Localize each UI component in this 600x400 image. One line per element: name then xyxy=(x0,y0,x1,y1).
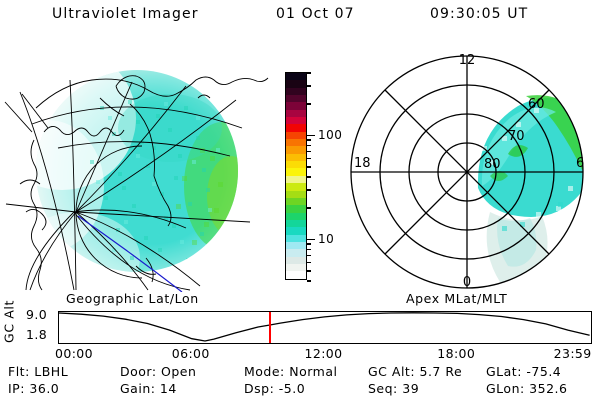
strip-x-tick-label: 12:00 xyxy=(304,346,342,361)
mlt-label-6: 6 xyxy=(576,156,584,171)
colorbar-band xyxy=(286,235,306,242)
status-field: GC Alt: 5.7 Re xyxy=(368,364,462,379)
colorbar-major-tick xyxy=(307,239,315,241)
status-field: GLat: -75.4 xyxy=(486,364,561,379)
colorbar-band xyxy=(286,191,306,198)
colorbar-minor-tick xyxy=(307,189,311,191)
geographic-panel-title: Geographic Lat/Lon xyxy=(66,291,199,306)
colorbar-minor-tick xyxy=(307,139,311,141)
colorbar-minor-tick xyxy=(307,280,311,282)
colorbar-minor-tick xyxy=(307,243,311,245)
apex-mlat-mlt-panel[interactable]: 12 18 0 6 60 70 80 xyxy=(330,36,600,292)
colorbar-band xyxy=(286,176,306,183)
mlat-label-60: 60 xyxy=(528,97,545,112)
page-title: Ultraviolet Imager xyxy=(52,6,199,22)
polar-plot: 12 18 0 6 60 70 80 xyxy=(330,36,600,292)
colorbar-minor-tick xyxy=(307,176,311,178)
colorbar-ticks xyxy=(307,72,315,280)
colorbar-minor-tick xyxy=(307,145,311,147)
mlat-label-80: 80 xyxy=(484,157,501,172)
colorbar-band xyxy=(286,257,306,264)
strip-y-max-label: 9.0 xyxy=(26,307,47,322)
geographic-plot xyxy=(0,36,270,292)
colorbar-band xyxy=(286,110,306,117)
colorbar-minor-tick xyxy=(307,72,311,74)
colorbar-band xyxy=(286,88,306,95)
colorbar-band xyxy=(286,146,306,153)
status-field: GLon: 352.6 xyxy=(486,381,567,396)
altitude-trace xyxy=(59,312,590,342)
ultraviolet-imager-window: Ultraviolet Imager 01 Oct 07 09:30:05 UT xyxy=(0,0,600,400)
status-field: Door: Open xyxy=(120,364,196,379)
colorbar-band xyxy=(286,220,306,227)
colorbar-band xyxy=(286,154,306,161)
colorbar[interactable]: photon cm-2s-1 10010 xyxy=(268,40,338,290)
colorbar-minor-tick xyxy=(307,262,311,264)
colorbar-minor-tick xyxy=(307,249,311,251)
colorbar-minor-tick xyxy=(307,85,311,87)
colorbar-band xyxy=(286,73,306,80)
mlt-label-18: 18 xyxy=(354,156,371,171)
colorbar-major-tick xyxy=(307,135,315,137)
mlat-label-70: 70 xyxy=(508,129,525,144)
mlt-panel-title: Apex MLat/MLT xyxy=(406,291,507,306)
time-cursor[interactable] xyxy=(269,312,270,343)
colorbar-band xyxy=(286,249,306,256)
colorbar-band xyxy=(286,124,306,131)
colorbar-band xyxy=(286,183,306,190)
geographic-image-panel[interactable] xyxy=(0,36,270,292)
strip-plot-area[interactable] xyxy=(58,311,592,344)
polar-grid xyxy=(351,56,583,288)
colorbar-band xyxy=(286,264,306,271)
strip-x-tick-label: 23:59 xyxy=(554,346,592,361)
altitude-strip-chart[interactable]: GC Alt 9.0 1.8 00:0006:0012:0018:0023:59 xyxy=(0,306,600,360)
colorbar-band xyxy=(286,205,306,212)
status-footer: Flt: LBHLDoor: OpenMode: NormalGC Alt: 5… xyxy=(0,362,600,400)
mlt-label-0: 0 xyxy=(463,275,471,290)
colorbar-minor-tick xyxy=(307,270,311,272)
strip-x-tick-label: 06:00 xyxy=(172,346,210,361)
colorbar-band xyxy=(286,161,306,168)
colorbar-band xyxy=(286,102,306,109)
colorbar-band xyxy=(286,271,306,278)
header: Ultraviolet Imager 01 Oct 07 09:30:05 UT xyxy=(0,0,600,34)
strip-y-min-label: 1.8 xyxy=(26,327,47,342)
status-field: Mode: Normal xyxy=(244,364,337,379)
colorbar-minor-tick xyxy=(307,151,311,153)
status-field: Dsp: -5.0 xyxy=(244,381,305,396)
status-field: Flt: LBHL xyxy=(8,364,68,379)
strip-y-axis-label: GC Alt xyxy=(2,299,17,345)
status-field: IP: 36.0 xyxy=(8,381,59,396)
colorbar-minor-tick xyxy=(307,158,311,160)
status-field: Gain: 14 xyxy=(120,381,177,396)
colorbar-minor-tick xyxy=(307,103,311,105)
colorbar-band xyxy=(286,227,306,234)
colorbar-band xyxy=(286,213,306,220)
colorbar-band xyxy=(286,80,306,87)
observation-time: 09:30:05 UT xyxy=(430,6,528,22)
colorbar-minor-tick xyxy=(307,207,311,209)
strip-x-tick-label: 00:00 xyxy=(55,346,93,361)
colorbar-band xyxy=(286,95,306,102)
colorbar-band xyxy=(286,198,306,205)
colorbar-band xyxy=(286,117,306,124)
colorbar-band xyxy=(286,242,306,249)
colorbar-band xyxy=(286,132,306,139)
colorbar-minor-tick xyxy=(307,255,311,257)
strip-x-tick-label: 18:00 xyxy=(437,346,475,361)
colorbar-gradient xyxy=(285,72,307,280)
colorbar-band xyxy=(286,139,306,146)
mlt-label-12: 12 xyxy=(459,53,476,68)
colorbar-band xyxy=(286,168,306,175)
observation-date: 01 Oct 07 xyxy=(276,6,355,22)
colorbar-minor-tick xyxy=(307,166,311,168)
status-field: Seq: 39 xyxy=(368,381,419,396)
